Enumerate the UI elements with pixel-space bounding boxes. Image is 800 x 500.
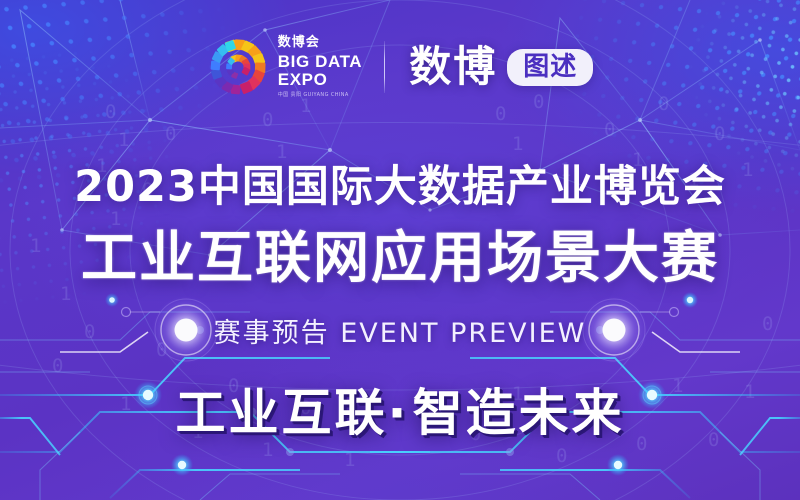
expo-en-line1: BIG DATA <box>278 53 362 71</box>
tagline-left: 工业互联 <box>176 384 388 442</box>
expo-cn-name: 数博会 <box>278 36 362 49</box>
event-title-line1: 2023中国国际大数据产业博览会 <box>0 152 800 214</box>
header-divider <box>384 41 385 93</box>
big-data-expo-spiral-mark-icon <box>207 37 269 97</box>
header-logo-row: 数博会 BIG DATA EXPO 中国 贵阳 GUIYANG CHINA 数博… <box>0 32 800 102</box>
event-tagline: 工业互联·智造未来 <box>0 373 800 445</box>
tagline-right: 智造未来 <box>413 384 625 442</box>
expo-location: 中国 贵阳 GUIYANG CHINA <box>278 93 362 98</box>
brand-pill-badge: 图述 <box>507 49 593 86</box>
poster-canvas: 011 010 010 101 010 101 01 100 101 010 1… <box>0 0 800 500</box>
poster-content: 数博会 BIG DATA EXPO 中国 贵阳 GUIYANG CHINA 数博… <box>0 0 800 500</box>
brand-pill-label: 图述 <box>523 54 577 80</box>
expo-en-line2: EXPO <box>278 71 362 90</box>
event-preview-label: 赛事预告 EVENT PREVIEW <box>0 311 800 350</box>
big-data-expo-logo: 数博会 BIG DATA EXPO 中国 贵阳 GUIYANG CHINA <box>207 36 362 98</box>
big-data-expo-wordmark: 数博会 BIG DATA EXPO 中国 贵阳 GUIYANG CHINA <box>278 36 362 98</box>
event-title-line2: 工业互联网应用场景大赛 <box>0 213 800 294</box>
brand-name: 数博 <box>409 46 497 88</box>
shubo-tushu-brand: 数博 图述 <box>409 46 593 88</box>
tagline-separator: · <box>388 384 413 442</box>
